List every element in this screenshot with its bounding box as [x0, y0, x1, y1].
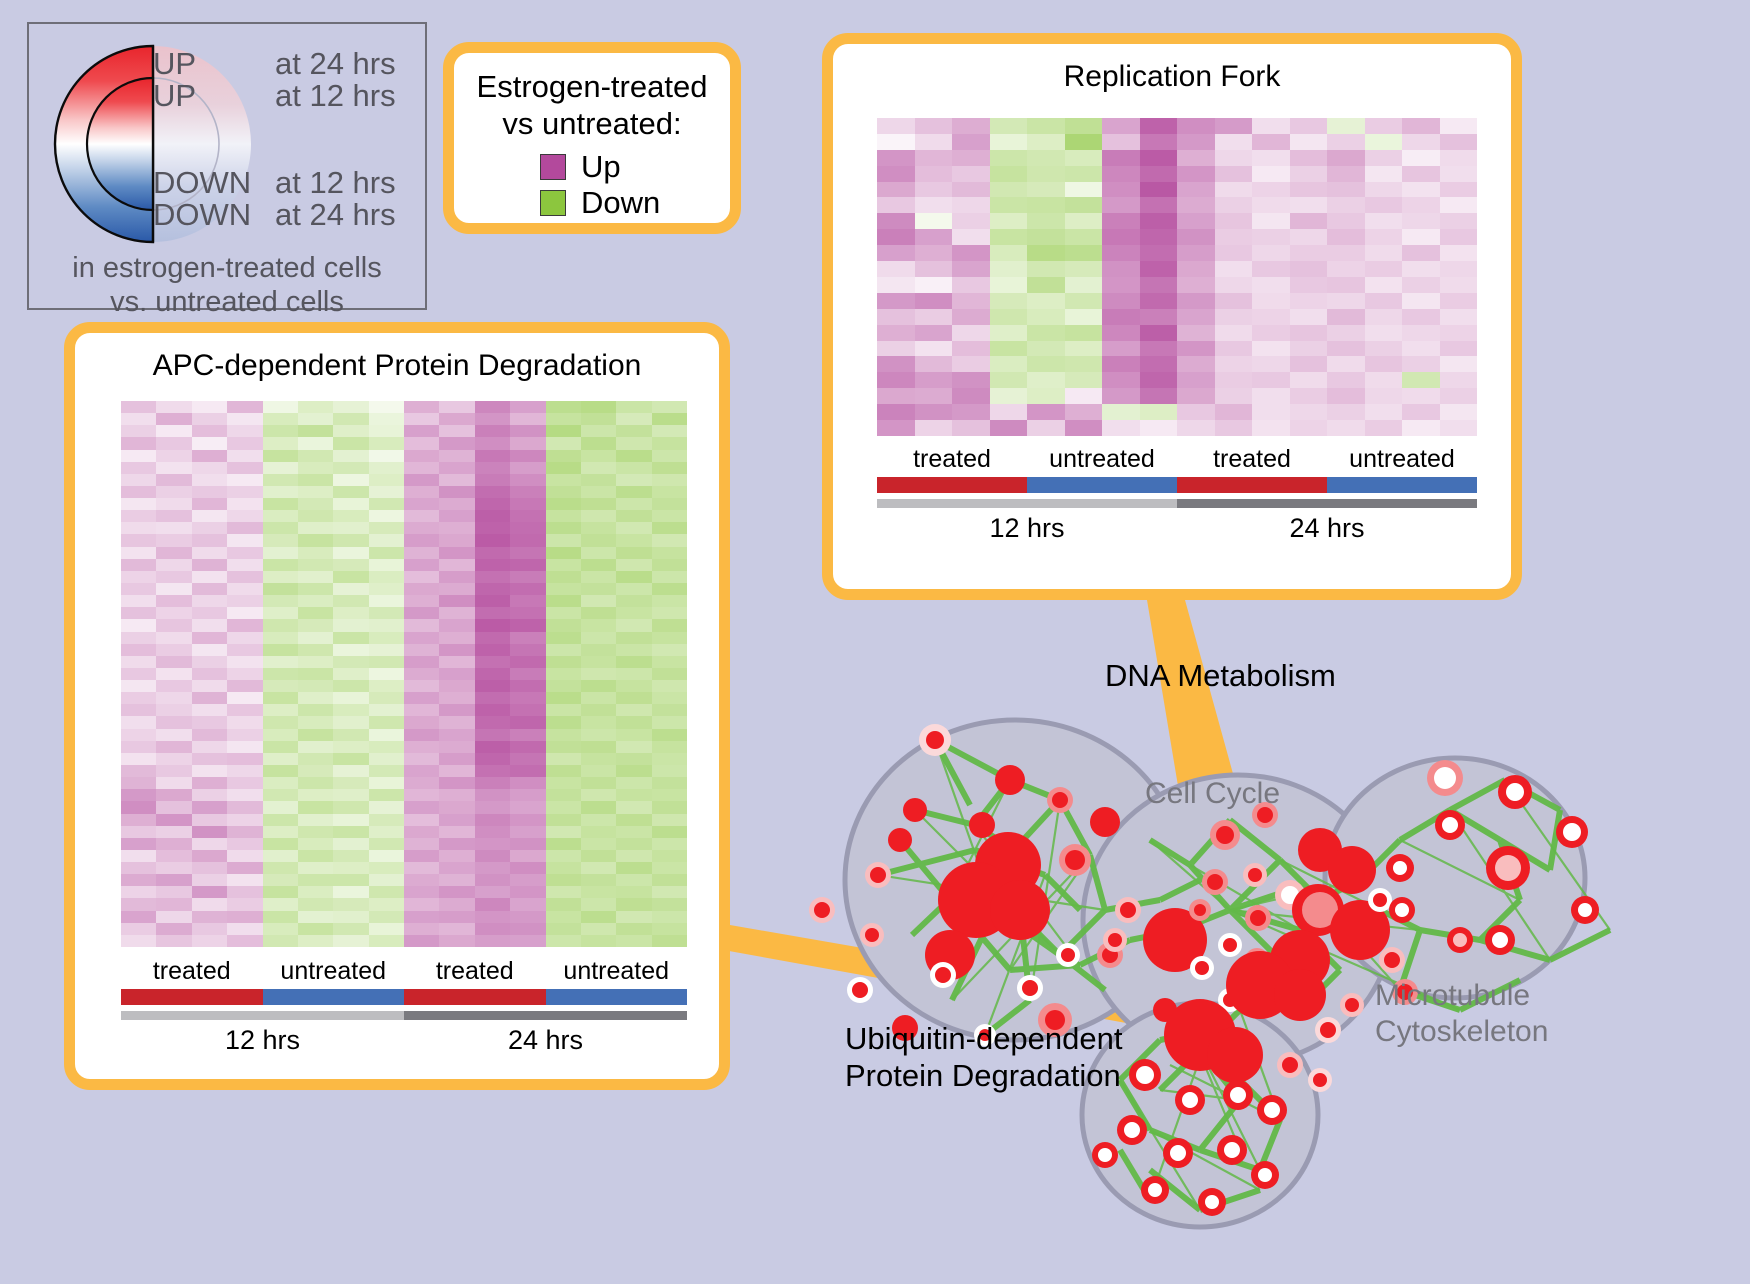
- heatmap-cell: [581, 862, 616, 874]
- heatmap-cell: [227, 486, 262, 498]
- heatmap-cell: [227, 898, 262, 910]
- heatmap-cell: [333, 583, 368, 595]
- heatmap-cell: [915, 372, 953, 388]
- group-label: treated: [1177, 445, 1327, 474]
- heatmap-cell: [1177, 229, 1215, 245]
- heatmap-cell: [1215, 245, 1253, 261]
- heatmap-cell: [652, 838, 687, 850]
- heatmap-cell: [192, 401, 227, 413]
- heatmap-cell: [439, 547, 474, 559]
- heatmap-cell: [1252, 229, 1290, 245]
- heatmap-title: APC-dependent Protein Degradation: [75, 349, 719, 383]
- heatmap-cell: [298, 886, 333, 898]
- heatmap-cell: [1065, 150, 1103, 166]
- heatmap-cell: [475, 583, 510, 595]
- heatmap-cell: [263, 789, 298, 801]
- heatmap-cell: [1365, 245, 1403, 261]
- heatmap-cell: [990, 420, 1028, 436]
- heatmap-cell: [1102, 420, 1140, 436]
- heatmap-cell: [510, 644, 545, 656]
- heatmap-cell: [298, 425, 333, 437]
- heatmap-cell: [510, 838, 545, 850]
- heatmap-cell: [333, 850, 368, 862]
- heatmap-cell: [652, 680, 687, 692]
- heatmap-cell: [616, 704, 651, 716]
- heatmap-cell: [546, 801, 581, 813]
- heatmap-cell: [1365, 404, 1403, 420]
- heatmap-cell: [121, 826, 156, 838]
- heatmap-cell: [369, 716, 404, 728]
- heatmap-cell: [546, 656, 581, 668]
- heatmap-cell: [227, 716, 262, 728]
- heatmap-cell: [652, 474, 687, 486]
- heatmap-cell: [1290, 293, 1328, 309]
- heatmap-cell: [1027, 261, 1065, 277]
- heatmap-cell: [915, 245, 953, 261]
- colorbar-legend-rows: UP at 24 hrs UP at 12 hrs DOWN at 12 hrs…: [153, 48, 396, 230]
- heatmap-cell: [652, 413, 687, 425]
- heatmap-cell: [298, 583, 333, 595]
- heatmap-cell: [404, 559, 439, 571]
- heatmap-cell: [263, 741, 298, 753]
- heatmap-cell: [1365, 372, 1403, 388]
- heatmap-cell: [192, 704, 227, 716]
- heatmap-cell: [581, 826, 616, 838]
- heatmap-cell: [1215, 182, 1253, 198]
- heatmap-cell: [121, 716, 156, 728]
- heatmap-cell: [1140, 134, 1178, 150]
- heatmap-cell: [263, 522, 298, 534]
- heatmap-cell: [298, 850, 333, 862]
- heatmap-cell: [263, 862, 298, 874]
- heatmap-cell: [439, 413, 474, 425]
- heatmap-cell: [263, 729, 298, 741]
- heatmap-cell: [616, 935, 651, 947]
- heatmap-cell: [439, 425, 474, 437]
- heatmap-cell: [263, 753, 298, 765]
- heatmap-cell: [952, 356, 990, 372]
- heatmap-cell: [156, 789, 191, 801]
- heatmap-cell: [915, 404, 953, 420]
- heatmap-cell: [1327, 213, 1365, 229]
- heatmap-cell: [510, 716, 545, 728]
- heatmap-cell: [990, 213, 1028, 229]
- heatmap-cell: [1252, 182, 1290, 198]
- heatmap-cell: [1440, 420, 1478, 436]
- heatmap-cell: [1440, 293, 1478, 309]
- heatmap-cell: [439, 498, 474, 510]
- heatmap-cell: [298, 704, 333, 716]
- heatmap-cell: [298, 644, 333, 656]
- heatmap-cell: [192, 729, 227, 741]
- heatmap-cell: [192, 583, 227, 595]
- heatmap-cell: [439, 692, 474, 704]
- heatmap-cell: [616, 862, 651, 874]
- heatmap-cell: [439, 644, 474, 656]
- network-node: [903, 798, 927, 822]
- heatmap-cell: [369, 607, 404, 619]
- heatmap-cell: [915, 261, 953, 277]
- heatmap-cell: [404, 632, 439, 644]
- heatmap-cell: [1177, 245, 1215, 261]
- heatmap-cell: [510, 534, 545, 546]
- heatmap-cell: [404, 437, 439, 449]
- heatmap-cell: [616, 729, 651, 741]
- heatmap-cell: [1027, 277, 1065, 293]
- heatmap-cell: [952, 293, 990, 309]
- heatmap-cell: [369, 632, 404, 644]
- legend-row: DOWN at 24 hrs: [153, 199, 396, 231]
- heatmap-cell: [546, 850, 581, 862]
- heatmap-cell: [263, 935, 298, 947]
- heatmap-cell: [333, 559, 368, 571]
- time-label: 24 hrs: [1177, 513, 1477, 544]
- heatmap-cell: [952, 229, 990, 245]
- heatmap-cell: [1365, 166, 1403, 182]
- heatmap-cell: [227, 619, 262, 631]
- heatmap-cell: [156, 522, 191, 534]
- time-label: 24 hrs: [404, 1025, 687, 1056]
- heatmap-cell: [1252, 150, 1290, 166]
- heatmap-cell: [404, 935, 439, 947]
- heatmap-cell: [1215, 404, 1253, 420]
- heatmap-cell: [1327, 325, 1365, 341]
- heatmap-cell: [298, 826, 333, 838]
- heatmap-cell: [475, 571, 510, 583]
- heatmap-cell: [369, 437, 404, 449]
- heatmap-cell: [263, 898, 298, 910]
- heatmap-cell: [990, 277, 1028, 293]
- heatmap-cell: [581, 571, 616, 583]
- heatmap-cell: [581, 474, 616, 486]
- heatmap-cell: [952, 309, 990, 325]
- heatmap-cell: [1140, 118, 1178, 134]
- heatmap-cell: [404, 753, 439, 765]
- heatmap-cell: [877, 372, 915, 388]
- heatmap-cell: [652, 607, 687, 619]
- heatmap-cell: [121, 425, 156, 437]
- heatmap-cell: [581, 401, 616, 413]
- heatmap-cell: [1365, 118, 1403, 134]
- heatmap-cell: [227, 923, 262, 935]
- heatmap-cell: [263, 656, 298, 668]
- heatmap-cell: [510, 522, 545, 534]
- heatmap-cell: [404, 777, 439, 789]
- heatmap-cell: [192, 741, 227, 753]
- heatmap-cell: [510, 425, 545, 437]
- heatmap-cell: [298, 450, 333, 462]
- heatmap-cell: [404, 486, 439, 498]
- heatmap-cell: [369, 486, 404, 498]
- heatmap-cell: [121, 401, 156, 413]
- heatmap-cell: [616, 619, 651, 631]
- heatmap-cell: [1252, 277, 1290, 293]
- heatmap-cell: [298, 607, 333, 619]
- heatmap-cell: [263, 704, 298, 716]
- heatmap-cell: [1440, 341, 1478, 357]
- legend-item-up: Up: [540, 149, 730, 185]
- heatmap-cell: [510, 498, 545, 510]
- heatmap-cell: [546, 777, 581, 789]
- heatmap-cell: [227, 534, 262, 546]
- heatmap-cell: [227, 474, 262, 486]
- heatmap-cell: [1065, 197, 1103, 213]
- heatmap-cell: [298, 632, 333, 644]
- heatmap-cell: [369, 692, 404, 704]
- heatmap-cell: [227, 680, 262, 692]
- heatmap-cell: [156, 595, 191, 607]
- heatmap-cell: [1290, 182, 1328, 198]
- heatmap-cell: [227, 571, 262, 583]
- heatmap-cell: [1365, 229, 1403, 245]
- heatmap-cell: [404, 898, 439, 910]
- heatmap-cell: [439, 898, 474, 910]
- heatmap-cell: [404, 571, 439, 583]
- heatmap-cell: [439, 583, 474, 595]
- heatmap-cell: [298, 595, 333, 607]
- heatmap-cell: [404, 716, 439, 728]
- heatmap-cell: [192, 886, 227, 898]
- heatmap-cell: [263, 534, 298, 546]
- heatmap-cell: [1402, 166, 1440, 182]
- heatmap-cell: [333, 656, 368, 668]
- heatmap-cell: [333, 814, 368, 826]
- heatmap-cell: [546, 510, 581, 522]
- heatmap-cell: [156, 862, 191, 874]
- heatmap-cell: [369, 753, 404, 765]
- heatmap-cell: [156, 534, 191, 546]
- heatmap-cell: [1027, 213, 1065, 229]
- heatmap-cell: [192, 765, 227, 777]
- group-label: treated: [404, 957, 546, 986]
- heatmap-cell: [263, 559, 298, 571]
- heatmap-cell: [298, 571, 333, 583]
- heatmap-cell: [121, 462, 156, 474]
- heatmap-cell: [877, 388, 915, 404]
- heatmap-cell: [1215, 356, 1253, 372]
- heatmap-cell: [404, 522, 439, 534]
- heatmap-cell: [1140, 309, 1178, 325]
- heatmap-cell: [1140, 245, 1178, 261]
- heatmap-cell: [298, 462, 333, 474]
- heatmap-cell: [581, 741, 616, 753]
- heatmap-cell: [581, 729, 616, 741]
- heatmap-cell: [1065, 213, 1103, 229]
- heatmap-cell: [369, 522, 404, 534]
- heatmap-cell: [263, 826, 298, 838]
- heatmap-cell: [333, 522, 368, 534]
- heatmap-cell: [475, 935, 510, 947]
- heatmap-cell: [369, 619, 404, 631]
- heatmap-cell: [1027, 245, 1065, 261]
- heatmap-cell: [121, 886, 156, 898]
- heatmap-cell: [1365, 356, 1403, 372]
- heatmap-cell: [510, 704, 545, 716]
- heatmap-cell: [877, 325, 915, 341]
- heatmap-cell: [1140, 325, 1178, 341]
- heatmap-cell: [546, 911, 581, 923]
- heatmap-cell: [616, 462, 651, 474]
- heatmap-cell: [121, 619, 156, 631]
- heatmap-cell: [369, 898, 404, 910]
- heatmap-cell: [333, 935, 368, 947]
- updown-legend-card: Estrogen-treated vs untreated: Up Down: [443, 42, 741, 234]
- heatmap-cell: [121, 753, 156, 765]
- legend-row: UP at 24 hrs: [153, 48, 396, 80]
- heatmap-cell: [616, 874, 651, 886]
- legend-row: DOWN at 12 hrs: [153, 167, 396, 199]
- heatmap-cell: [652, 498, 687, 510]
- heatmap-cell: [581, 559, 616, 571]
- heatmap-cell: [1102, 372, 1140, 388]
- heatmap-cell: [333, 413, 368, 425]
- heatmap-cell: [298, 765, 333, 777]
- heatmap-cell: [263, 571, 298, 583]
- heatmap-cell: [227, 753, 262, 765]
- heatmap-cell: [475, 486, 510, 498]
- cluster-label-ubiquitin-degradation: Ubiquitin-dependent Protein Degradation: [845, 1020, 1123, 1094]
- heatmap-cell: [581, 668, 616, 680]
- heatmap-cell: [227, 547, 262, 559]
- heatmap-cell: [652, 692, 687, 704]
- heatmap-cell: [227, 692, 262, 704]
- heatmap-cell: [652, 401, 687, 413]
- heatmap-cell: [1177, 420, 1215, 436]
- heatmap-cell: [227, 607, 262, 619]
- heatmap-cell: [1290, 213, 1328, 229]
- heatmap-cell: [156, 559, 191, 571]
- heatmap-cell: [990, 325, 1028, 341]
- timepoint-colorbar: [877, 499, 1477, 508]
- heatmap-cell: [121, 862, 156, 874]
- heatmap-cell: [877, 118, 915, 134]
- heatmap-cell: [652, 911, 687, 923]
- heatmap-cell: [1065, 245, 1103, 261]
- heatmap-cell: [1102, 213, 1140, 229]
- heatmap-cell: [298, 729, 333, 741]
- heatmap-cell: [121, 704, 156, 716]
- heatmap-cell: [1327, 309, 1365, 325]
- heatmap-grid: [121, 401, 687, 947]
- heatmap-cell: [510, 632, 545, 644]
- heatmap-cell: [121, 571, 156, 583]
- heatmap-cell: [263, 401, 298, 413]
- heatmap-cell: [616, 401, 651, 413]
- heatmap-cell: [1440, 388, 1478, 404]
- heatmap-cell: [404, 595, 439, 607]
- heatmap-cell: [1177, 277, 1215, 293]
- heatmap-cell: [510, 862, 545, 874]
- heatmap-cell: [439, 704, 474, 716]
- heatmap-cell: [616, 644, 651, 656]
- heatmap-cell: [156, 911, 191, 923]
- heatmap-cell: [915, 150, 953, 166]
- heatmap-cell: [546, 923, 581, 935]
- heatmap-cell: [1290, 341, 1328, 357]
- heatmap-cell: [192, 534, 227, 546]
- heatmap-cell: [369, 838, 404, 850]
- heatmap-cell: [156, 765, 191, 777]
- heatmap-cell: [333, 632, 368, 644]
- heatmap-cell: [227, 462, 262, 474]
- heatmap-cell: [227, 741, 262, 753]
- heatmap-cell: [227, 559, 262, 571]
- heatmap-cell: [915, 420, 953, 436]
- heatmap-cell: [156, 716, 191, 728]
- heatmap-cell: [1065, 325, 1103, 341]
- heatmap-cell: [990, 166, 1028, 182]
- heatmap-cell: [1290, 309, 1328, 325]
- heatmap-cell: [298, 547, 333, 559]
- heatmap-cell: [546, 765, 581, 777]
- heatmap-cell: [1252, 404, 1290, 420]
- heatmap-cell: [263, 632, 298, 644]
- heatmap-cell: [546, 534, 581, 546]
- heatmap-cell: [915, 356, 953, 372]
- heatmap-cell: [616, 850, 651, 862]
- heatmap-cell: [652, 874, 687, 886]
- heatmap-cell: [546, 559, 581, 571]
- heatmap-cell: [546, 886, 581, 898]
- heatmap-cell: [439, 437, 474, 449]
- heatmap-cell: [546, 619, 581, 631]
- heatmap-cell: [1402, 261, 1440, 277]
- heatmap-cell: [581, 413, 616, 425]
- heatmap-cell: [1065, 229, 1103, 245]
- heatmap-cell: [227, 644, 262, 656]
- heatmap-cell: [439, 874, 474, 886]
- heatmap-cell: [227, 583, 262, 595]
- heatmap-cell: [263, 607, 298, 619]
- heatmap-cell: [404, 741, 439, 753]
- heatmap-cell: [475, 729, 510, 741]
- heatmap-cell: [915, 197, 953, 213]
- heatmap-cell: [1327, 388, 1365, 404]
- heatmap-cell: [369, 656, 404, 668]
- heatmap-cell: [333, 607, 368, 619]
- heatmap-cell: [298, 716, 333, 728]
- heatmap-cell: [333, 401, 368, 413]
- heatmap-cell: [369, 935, 404, 947]
- heatmap-cell: [1440, 372, 1478, 388]
- heatmap-cell: [192, 619, 227, 631]
- heatmap-cell: [1252, 388, 1290, 404]
- heatmap-cell: [616, 765, 651, 777]
- legend-row-value: at 24 hrs: [275, 48, 396, 80]
- heatmap-cell: [877, 182, 915, 198]
- heatmap-cell: [263, 874, 298, 886]
- heatmap-cell: [652, 534, 687, 546]
- heatmap-cell: [227, 765, 262, 777]
- heatmap-cell: [546, 571, 581, 583]
- heatmap-cell: [192, 801, 227, 813]
- heatmap-cell: [581, 753, 616, 765]
- heatmap-cell: [298, 935, 333, 947]
- heatmap-cell: [877, 309, 915, 325]
- heatmap-cell: [546, 450, 581, 462]
- heatmap-cell: [369, 911, 404, 923]
- heatmap-cell: [990, 150, 1028, 166]
- heatmap-cell: [1215, 229, 1253, 245]
- heatmap-cell: [581, 437, 616, 449]
- heatmap-cell: [227, 789, 262, 801]
- heatmap-cell: [1027, 420, 1065, 436]
- heatmap-cell: [546, 753, 581, 765]
- heatmap-cell: [333, 498, 368, 510]
- heatmap-cell: [581, 923, 616, 935]
- heatmap-cell: [1027, 341, 1065, 357]
- heatmap-cell: [439, 911, 474, 923]
